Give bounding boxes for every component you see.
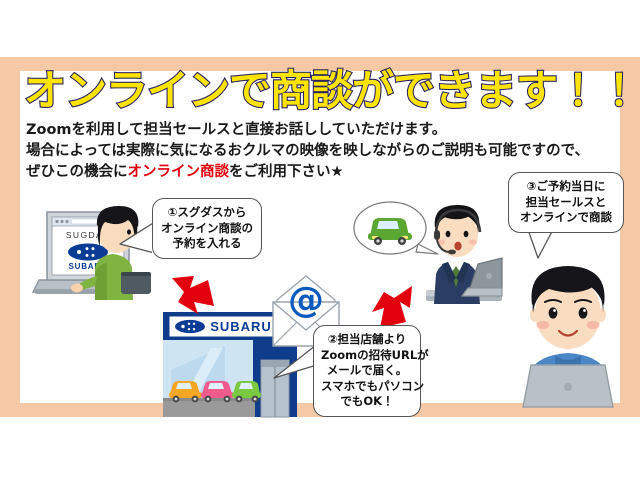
body-copy-highlight: オンライン商談: [128, 164, 230, 180]
callout-2-line-2: Zoomの招待URLが: [321, 348, 413, 364]
callout-2-line-4: スマホでもパソコン: [321, 379, 413, 395]
callout-1: ①スグダスから オンライン商談の 予約を入れる: [152, 198, 262, 259]
callout-2-line-1: ②担当店舗より: [321, 332, 413, 348]
callout-2-line-3: メールで届く。: [321, 363, 413, 379]
callout-2-line-5: でもOK！: [321, 394, 413, 410]
poster-root: オンラインで商談ができます！！ Zoomを利用して担当セールスと直接お話ししてい…: [0, 0, 640, 480]
callout-2: ②担当店舗より Zoomの招待URLが メールで届く。 スマホでもパソコン でも…: [313, 325, 421, 417]
page-title: オンラインで商談ができます！！: [24, 68, 620, 114]
callout-1-line-3: 予約を入れる: [160, 236, 254, 252]
callout-1-line-2: オンライン商談の: [160, 221, 254, 237]
at-symbol-icon: @: [288, 280, 324, 321]
body-copy-line-2: 場合によっては実際に気になるおクルマの映像を映しながらのご説明も可能ですので、: [26, 141, 616, 162]
callout-3: ③ご予約当日に 担当セールスと オンラインで商談: [508, 172, 624, 233]
callout-1-line-1: ①スグダスから: [160, 205, 254, 221]
illustration-customer: [505, 255, 631, 407]
red-arrow-down-right-icon: [168, 272, 224, 323]
callout-3-line-1: ③ご予約当日に: [516, 179, 616, 195]
callout-3-line-2: 担当セールスと: [516, 195, 616, 211]
body-copy-line-3-after: をご利用下さい★: [229, 164, 344, 180]
body-copy-line-3-before: ぜひこの機会に: [26, 164, 128, 180]
callout-3-line-3: オンラインで商談: [516, 210, 616, 226]
body-copy-line-1: Zoomを利用して担当セールスと直接お話ししていただけます。: [26, 120, 616, 141]
